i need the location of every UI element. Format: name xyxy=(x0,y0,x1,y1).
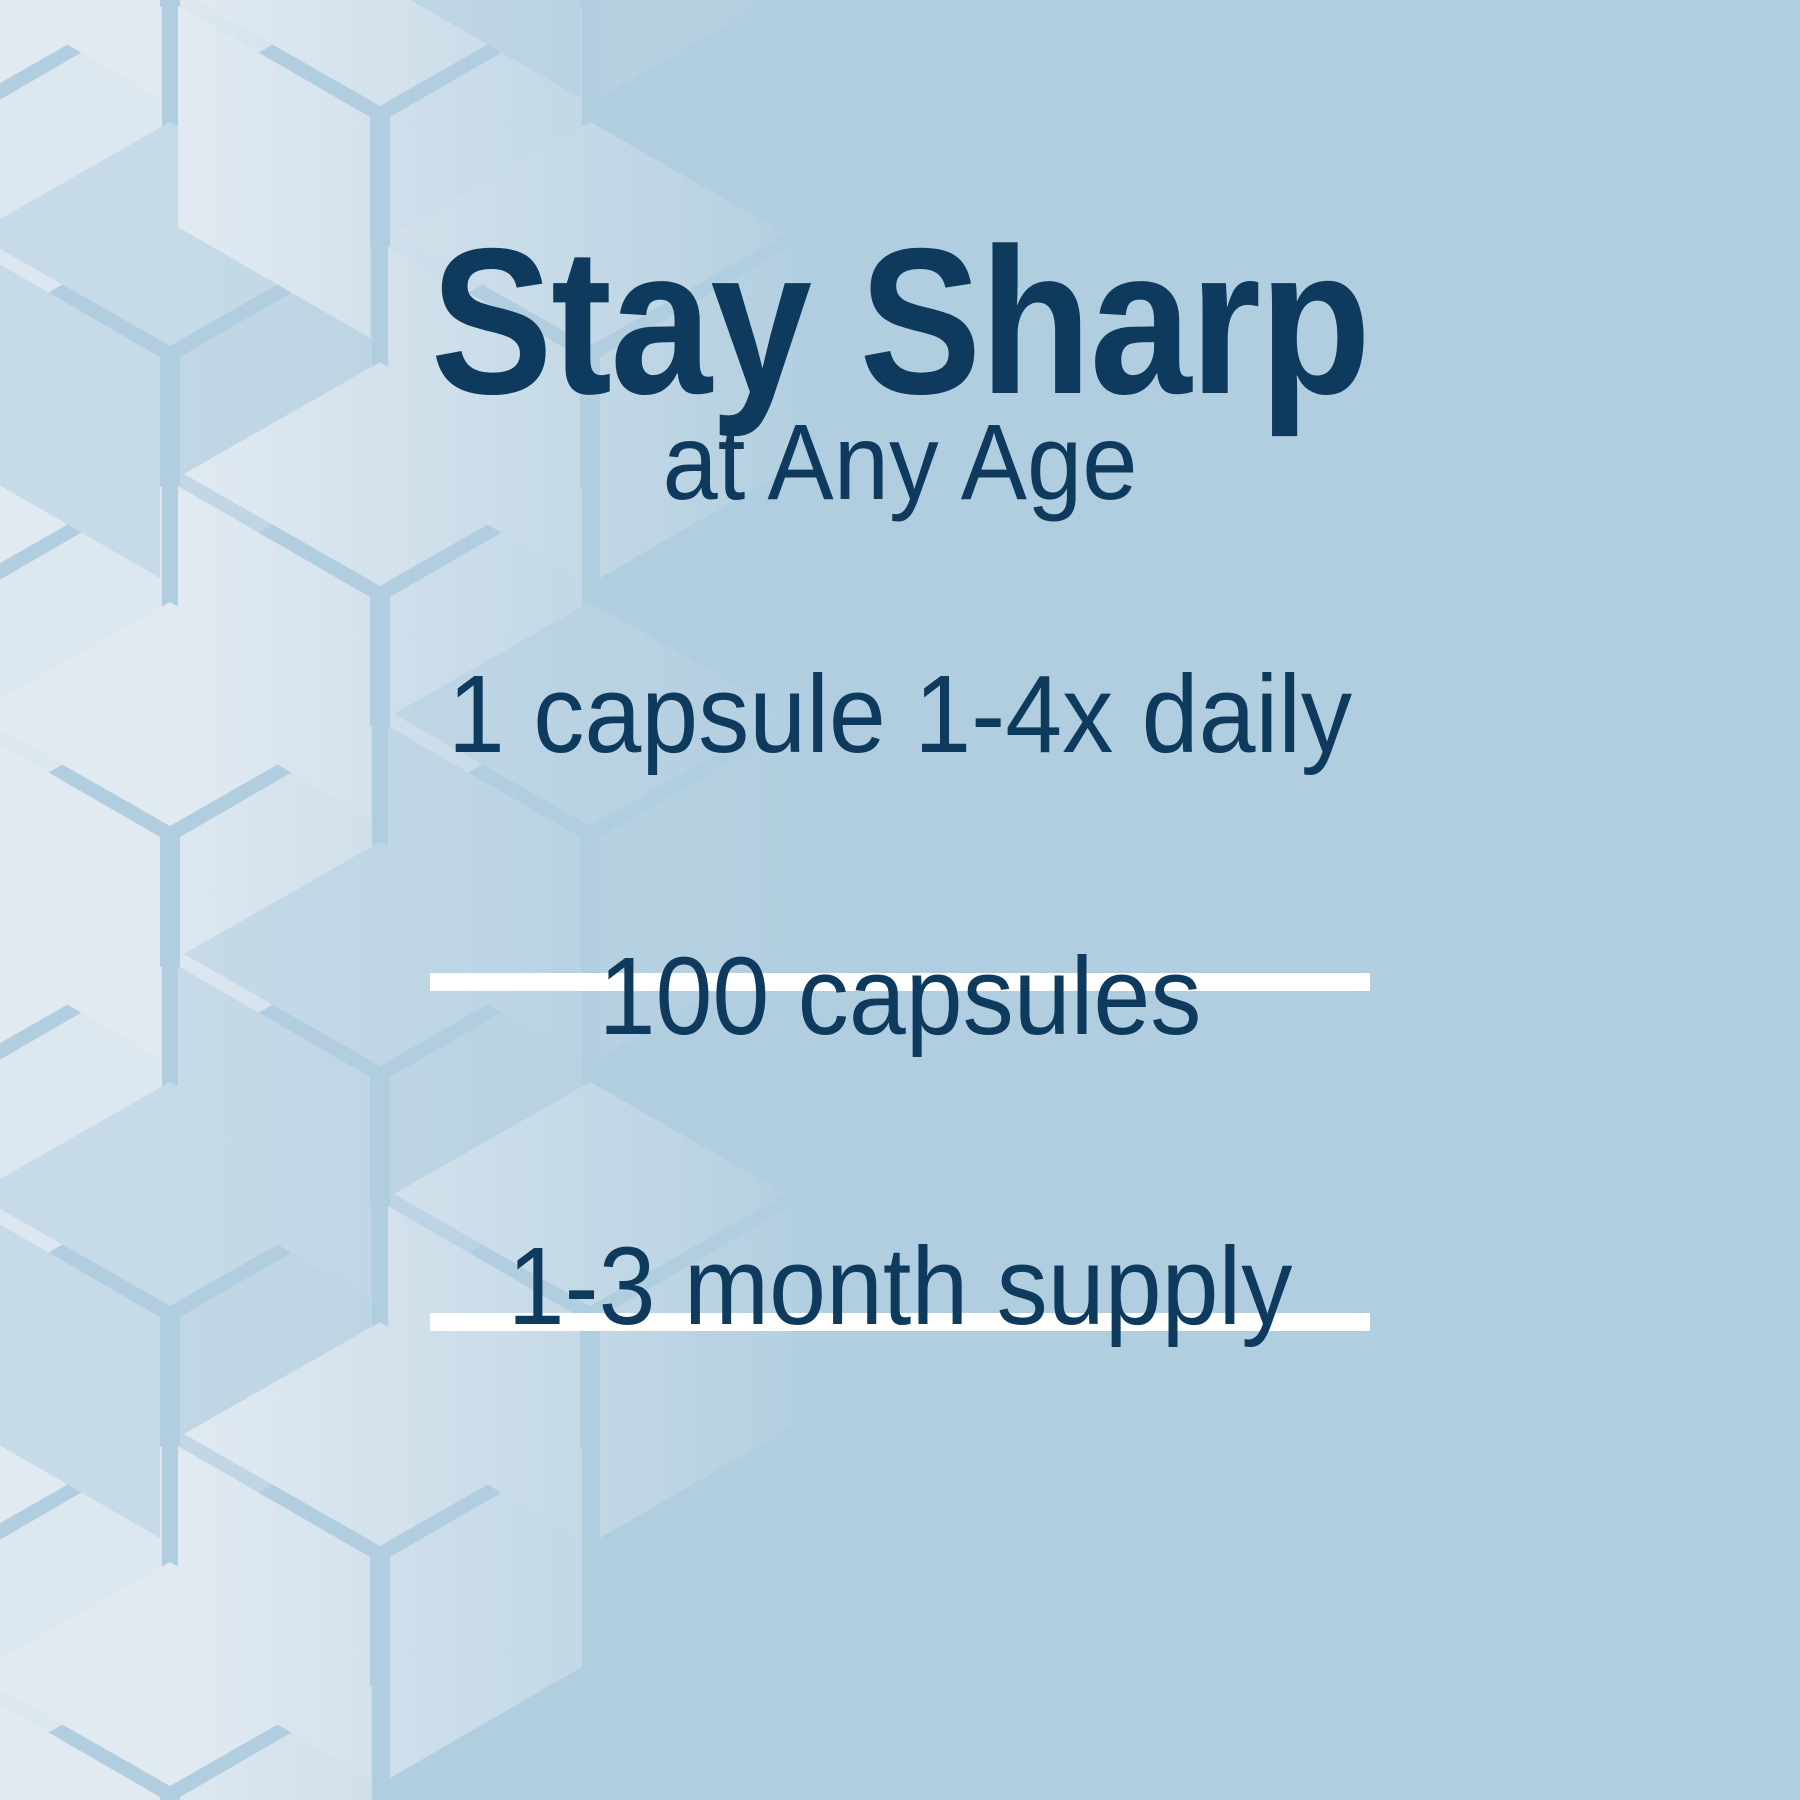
product-benefit-card: Stay Sharp at Any Age 1 capsule 1-4x dai… xyxy=(0,0,1800,1800)
card-content: Stay Sharp at Any Age 1 capsule 1-4x dai… xyxy=(0,0,1800,1800)
fact-supply: 1-3 month supply xyxy=(63,1232,1737,1342)
page-subtitle: at Any Age xyxy=(72,408,1728,516)
fact-dosage: 1 capsule 1-4x daily xyxy=(63,660,1737,770)
page-title: Stay Sharp xyxy=(108,218,1692,426)
fact-count: 100 capsules xyxy=(63,942,1737,1052)
